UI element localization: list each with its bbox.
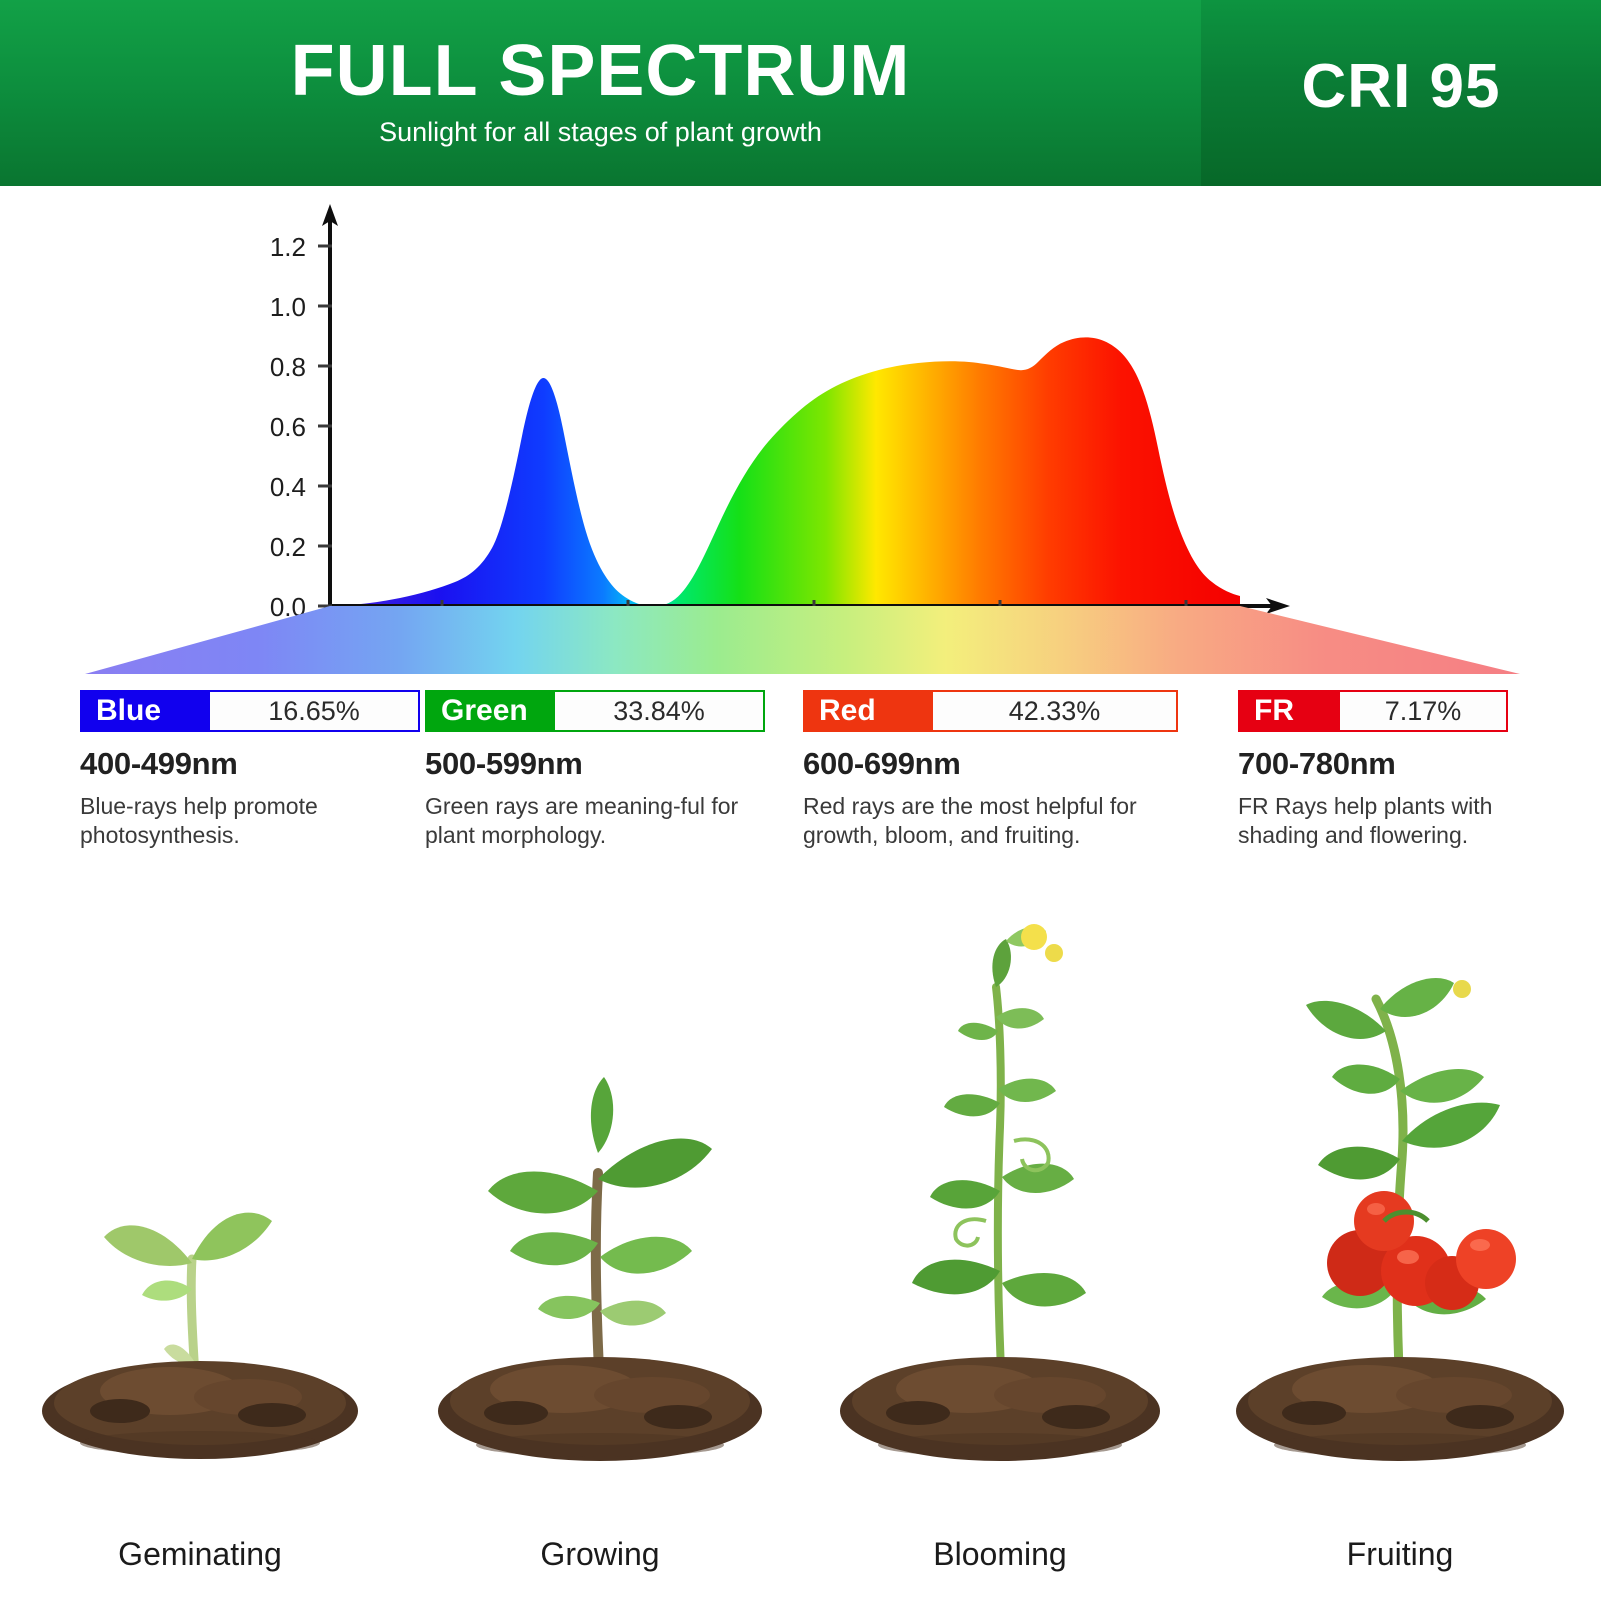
band-percent-blue: 16.65% (210, 692, 418, 730)
soil-mound (42, 1361, 358, 1459)
y-tick-label: 0.8 (270, 352, 306, 382)
flowering-vine-icon (800, 891, 1200, 1491)
spectrum-fan-svg (0, 600, 1601, 690)
band-percent-green: 33.84% (555, 692, 763, 730)
band-description-red: Red rays are the most helpful for growth… (803, 792, 1178, 850)
flower-bloom (1453, 980, 1471, 998)
stage-label-fruiting: Fruiting (1200, 1536, 1600, 1573)
page-subtitle: Sunlight for all stages of plant growth (0, 116, 1201, 148)
band-description-green: Green rays are meaning-ful for plant mor… (425, 792, 765, 850)
y-tick-label: 0.4 (270, 472, 306, 502)
band-card-fr: FR 7.17% 700-780nm FR Rays help plants w… (1238, 690, 1508, 850)
stage-label-blooming: Blooming (800, 1536, 1200, 1573)
tomato-cluster (1327, 1191, 1516, 1310)
flower-bloom (1045, 944, 1063, 962)
band-name-fr: FR (1240, 692, 1340, 730)
band-name-blue: Blue (82, 692, 210, 730)
young-plant (488, 1077, 712, 1391)
growth-stage-fruiting: Fruiting (1200, 860, 1600, 1601)
seedling-icon (0, 891, 400, 1491)
band-name-green: Green (427, 692, 555, 730)
band-description-fr: FR Rays help plants with shading and flo… (1238, 792, 1508, 850)
band-pill-blue[interactable]: Blue 16.65% (80, 690, 420, 732)
spectrum-fan-shape (85, 606, 1520, 674)
band-legend-row: Blue 16.65% 400-499nm Blue-rays help pro… (0, 690, 1601, 860)
page-title: FULL SPECTRUM (0, 32, 1201, 110)
header-banner: FULL SPECTRUM Sunlight for all stages of… (0, 0, 1601, 186)
soil-mound (438, 1357, 762, 1461)
soil-mound (840, 1357, 1160, 1461)
y-tick-label: 1.0 (270, 292, 306, 322)
band-range-green: 500-599nm (425, 746, 765, 782)
tomato-plant-icon (1200, 891, 1600, 1491)
y-tick-label: 1.2 (270, 232, 306, 262)
band-name-red: Red (805, 692, 933, 730)
tomato-plant (1306, 978, 1516, 1391)
band-percent-red: 42.33% (933, 692, 1176, 730)
soil-mound (1236, 1357, 1564, 1461)
y-tick-label: 0.6 (270, 412, 306, 442)
spectrum-fan-bar (0, 600, 1601, 690)
growth-stage-growing: Growing (400, 860, 800, 1601)
band-pill-fr[interactable]: FR 7.17% (1238, 690, 1508, 732)
growth-stages-row: Geminating Gr (0, 860, 1601, 1601)
flower-bloom (1021, 924, 1047, 950)
band-pill-red[interactable]: Red 42.33% (803, 690, 1178, 732)
band-percent-fr: 7.17% (1340, 692, 1506, 730)
spectral-power-area (330, 337, 1240, 606)
flowering-vine (912, 924, 1086, 1391)
growth-stage-geminating: Geminating (0, 860, 400, 1601)
y-tick-labels: 0.0 0.2 0.4 0.6 0.8 1.0 1.2 (270, 232, 306, 622)
band-range-red: 600-699nm (803, 746, 1178, 782)
stage-label-geminating: Geminating (0, 1536, 400, 1573)
band-card-blue: Blue 16.65% 400-499nm Blue-rays help pro… (80, 690, 420, 850)
young-plant-icon (400, 891, 800, 1491)
band-card-red: Red 42.33% 600-699nm Red rays are the mo… (803, 690, 1178, 850)
band-card-green: Green 33.84% 500-599nm Green rays are me… (425, 690, 765, 850)
y-tick-label: 0.2 (270, 532, 306, 562)
stage-label-growing: Growing (400, 1536, 800, 1573)
growth-stage-blooming: Blooming (800, 860, 1200, 1601)
band-description-blue: Blue-rays help promote photosynthesis. (80, 792, 420, 850)
band-range-fr: 700-780nm (1238, 746, 1508, 782)
band-pill-green[interactable]: Green 33.84% (425, 690, 765, 732)
band-range-blue: 400-499nm (80, 746, 420, 782)
cri-badge: CRI 95 (1201, 52, 1601, 122)
tomato-fruit (1456, 1229, 1516, 1289)
